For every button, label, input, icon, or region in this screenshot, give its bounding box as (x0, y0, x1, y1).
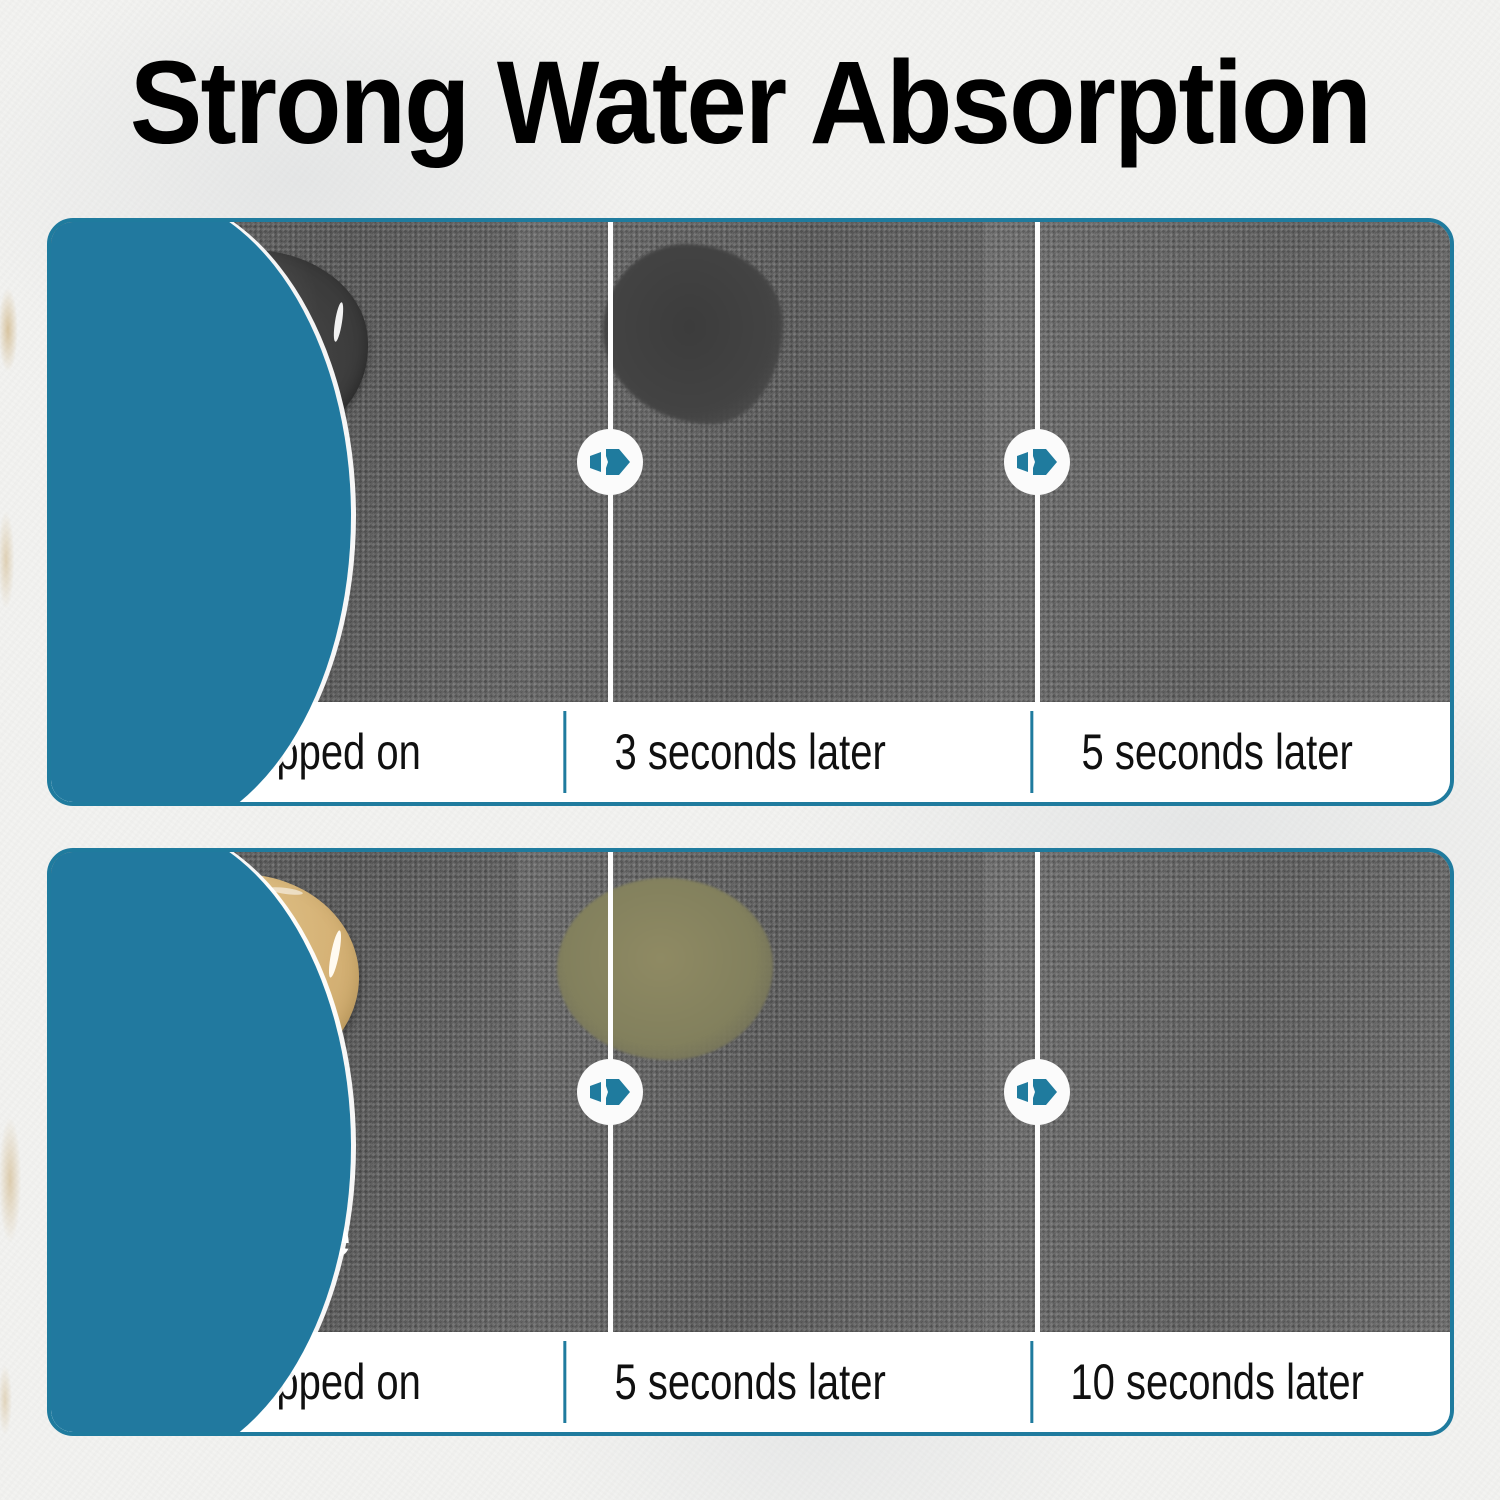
stage-state-coffee-3: fully-absorbed (984, 852, 985, 853)
stage-arrow-badge-2 (1004, 429, 1070, 495)
stage-arrow-badge-1 (577, 1059, 643, 1125)
double-arrow-right-icon (1015, 442, 1059, 482)
stage-arrow-badge-1 (577, 429, 643, 495)
stage-state-water-3: fully-absorbed (984, 222, 985, 223)
highlight-icon (326, 930, 343, 979)
double-arrow-right-icon (1015, 1072, 1059, 1112)
caption-water-stage-2: 3 seconds later (564, 702, 937, 802)
double-arrow-right-icon (588, 1072, 632, 1112)
stage-state-coffee-2: partly-absorbed (517, 852, 518, 853)
demo-panel-water: fresh-bead partly-absorbed fully-absorbe… (47, 218, 1454, 806)
page-title: Strong Water Absorption (60, 42, 1440, 166)
double-arrow-right-icon (588, 442, 632, 482)
infographic-page: Strong Water Absorption fresh-bead partl… (0, 0, 1500, 1500)
highlight-icon (332, 302, 345, 343)
coffee-stain-partly-absorbed (557, 878, 773, 1060)
stage-state-water-2: partly-absorbed (517, 222, 518, 223)
stage-arrow-badge-2 (1004, 1059, 1070, 1125)
water-stain-partly-absorbed (603, 244, 783, 424)
caption-coffee-stage-3: 10 seconds later (1030, 1332, 1403, 1432)
demo-panel-coffee: fresh-bead partly-absorbed fully-absorbe… (47, 848, 1454, 1436)
caption-water-stage-3: 5 seconds later (1030, 702, 1403, 802)
caption-coffee-stage-2: 5 seconds later (564, 1332, 937, 1432)
